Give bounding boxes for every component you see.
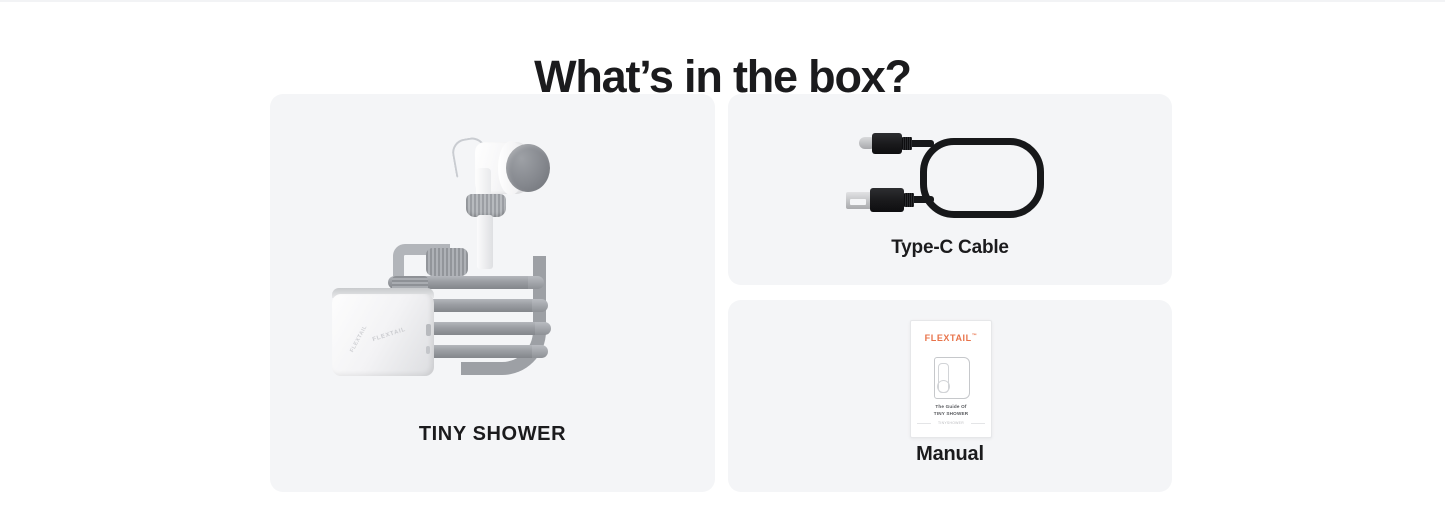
manual-booklet-image: FLEXTAIL™ The Guide Of TINY SHOWER TINYS… bbox=[910, 320, 992, 438]
hose-coil-end bbox=[532, 345, 548, 358]
flextail-logo: FLEXTAIL™ bbox=[910, 333, 992, 343]
hose-coil-end bbox=[532, 299, 548, 312]
product-card-tiny-shower[interactable]: FLEXTAIL FLEXTAIL TINY SHOWER bbox=[270, 94, 715, 492]
trademark-symbol: ™ bbox=[972, 333, 978, 339]
manual-cover-title: The Guide Of TINY SHOWER bbox=[910, 404, 992, 418]
manual-title-line-2: TINY SHOWER bbox=[910, 411, 992, 418]
product-card-type-c-cable[interactable]: Type-C Cable bbox=[728, 94, 1172, 285]
cable-loop bbox=[920, 138, 1044, 218]
manual-device-illustration bbox=[934, 357, 970, 399]
usb-a-strain-relief bbox=[904, 193, 914, 207]
whats-in-the-box-section: What’s in the box? FLEXT bbox=[0, 0, 1445, 518]
flextail-logo-text: FLEXTAIL bbox=[925, 333, 972, 343]
usb-c-strain-relief bbox=[902, 137, 912, 150]
manual-device-dial bbox=[937, 380, 950, 393]
usb-a-connector-slot bbox=[850, 199, 866, 205]
card-label-tiny-shower: TINY SHOWER bbox=[270, 423, 715, 446]
pump-valve bbox=[426, 248, 468, 276]
pump-port bbox=[426, 324, 431, 336]
product-card-manual[interactable]: FLEXTAIL™ The Guide Of TINY SHOWER TINYS… bbox=[728, 300, 1172, 492]
usb-a-connector bbox=[870, 188, 904, 212]
page-title: What’s in the box? bbox=[0, 52, 1445, 102]
pump-port-secondary bbox=[426, 346, 430, 354]
shower-head-face bbox=[506, 144, 550, 192]
usb-type-c-cable-image bbox=[858, 116, 1048, 216]
shower-head-collar bbox=[466, 194, 506, 217]
manual-footer-text: TINYSHOWER bbox=[910, 421, 992, 425]
usb-c-connector bbox=[872, 133, 902, 154]
card-label-manual: Manual bbox=[728, 443, 1172, 466]
hose-coil-end bbox=[535, 322, 551, 335]
top-divider bbox=[0, 0, 1445, 2]
hose-coil-end bbox=[528, 276, 544, 289]
tiny-shower-product-image: FLEXTAIL FLEXTAIL bbox=[330, 136, 660, 396]
manual-title-line-1: The Guide Of bbox=[910, 404, 992, 411]
card-label-type-c-cable: Type-C Cable bbox=[728, 237, 1172, 259]
